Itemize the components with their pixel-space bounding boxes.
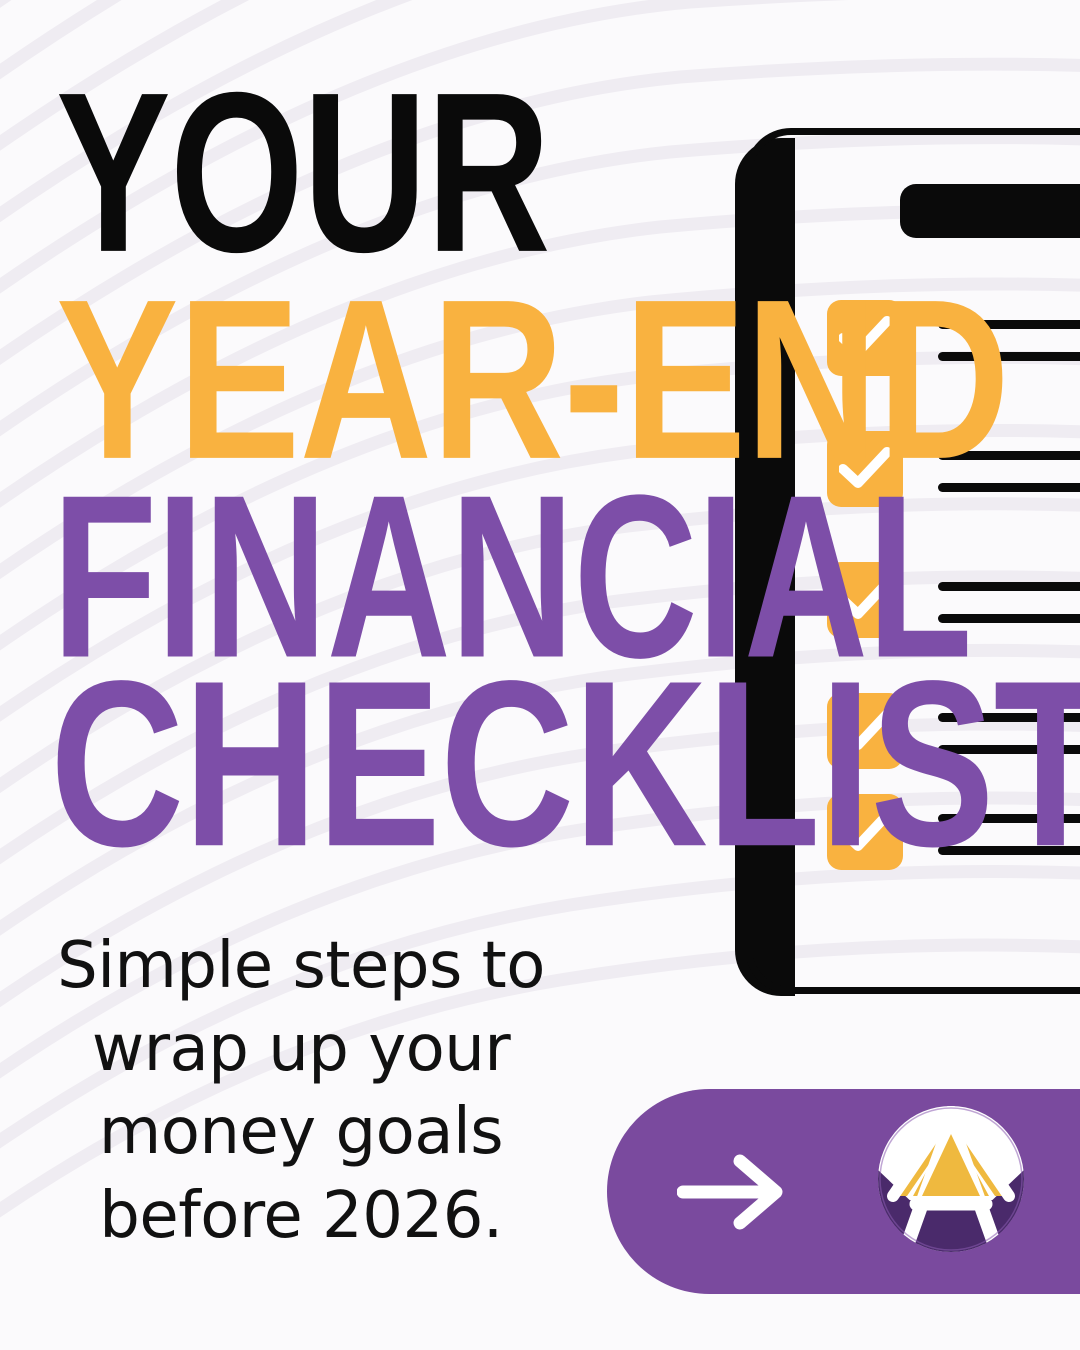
subheading-line-1: Simple steps to [16, 925, 586, 1008]
brand-cta-pill[interactable] [607, 1089, 1080, 1294]
card-title-bar [900, 184, 1080, 238]
poster-canvas: YOUR YEAR-END FINANCIAL CHECKLIST Simple… [0, 0, 1080, 1350]
subheading-block: Simple steps to wrap up your money goals… [16, 925, 586, 1258]
arrow-right-icon[interactable] [677, 1151, 787, 1233]
subheading-line-2: wrap up your [16, 1008, 586, 1091]
brand-a-monogram-logo[interactable] [876, 1104, 1026, 1254]
subheading-line-4: before 2026. [16, 1175, 586, 1258]
headline-line-checklist: CHECKLIST [50, 645, 1080, 882]
subheading-line-3: money goals [16, 1091, 586, 1174]
